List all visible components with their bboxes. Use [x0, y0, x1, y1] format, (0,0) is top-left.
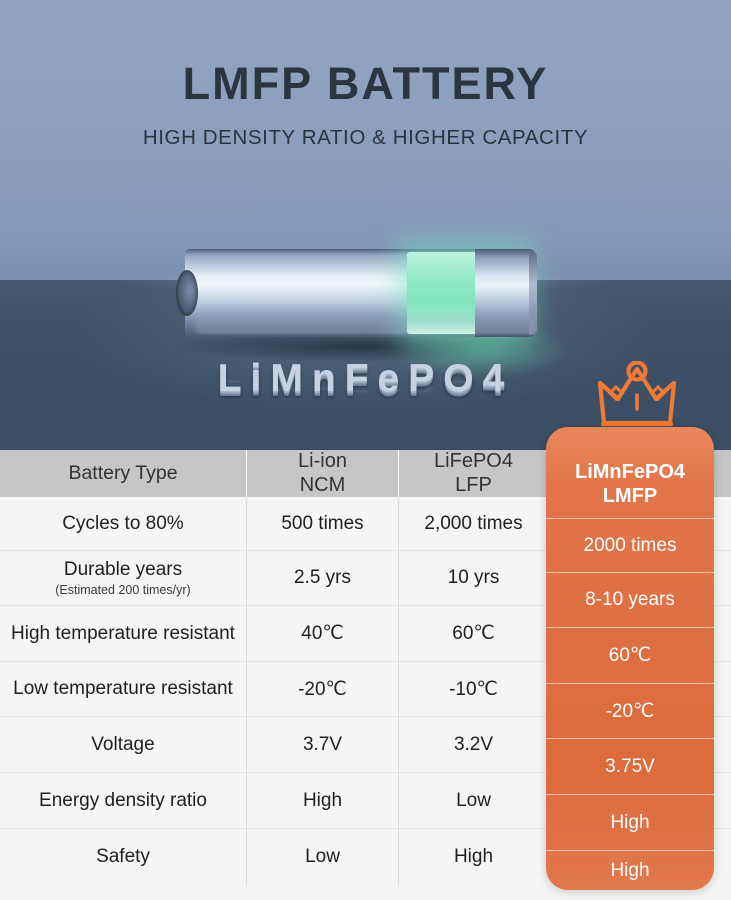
row-label-sub: (Estimated 200 times/yr) — [55, 583, 190, 597]
header-cell-lfp: LiFePO4 LFP — [398, 450, 548, 497]
cell-value: High — [303, 790, 342, 812]
row-label-main: Voltage — [91, 734, 154, 756]
header-ncm-line2: NCM — [300, 474, 346, 498]
battery-reflection — [196, 309, 536, 334]
cell-value: -20℃ — [298, 678, 347, 701]
cell-ncm: 500 times — [246, 497, 398, 550]
cell-value: -20℃ — [606, 700, 655, 723]
page-subtitle: HIGH DENSITY RATIO & HIGHER CAPACITY — [0, 126, 731, 150]
cell-lmfp: 2000 times — [546, 519, 714, 572]
cell-value: 8-10 years — [585, 589, 675, 611]
page-title: LMFP BATTERY — [0, 58, 731, 110]
cell-value: 60℃ — [452, 622, 494, 645]
header-lmfp-line2: LMFP — [603, 485, 657, 509]
cell-lmfp: 60℃ — [546, 628, 714, 683]
cell-value: Low — [456, 790, 491, 812]
header-cell-lmfp: LiMnFePO4 LMFP — [546, 452, 714, 518]
row-label: Voltage — [0, 717, 246, 772]
row-label-main: Durable years — [64, 559, 182, 581]
cell-value: -10℃ — [449, 678, 498, 701]
cell-value: 60℃ — [609, 644, 651, 667]
cell-value: High — [454, 846, 493, 868]
cell-ncm: 40℃ — [246, 606, 398, 661]
cell-lfp: 60℃ — [398, 606, 548, 661]
cell-ncm: -20℃ — [246, 662, 398, 716]
cell-value: High — [610, 860, 649, 882]
cell-lfp: 10 yrs — [398, 551, 548, 605]
cell-value: 3.7V — [303, 734, 342, 756]
row-label: Low temperature resistant — [0, 662, 246, 716]
cell-value: 2000 times — [584, 535, 677, 557]
header-lfp-line1: LiFePO4 — [434, 450, 513, 474]
header-lmfp-line1: LiMnFePO4 — [575, 461, 685, 485]
row-label-main: Low temperature resistant — [13, 678, 233, 700]
cell-lmfp: High — [546, 795, 714, 850]
row-label-main: High temperature resistant — [11, 623, 235, 645]
row-label: High temperature resistant — [0, 606, 246, 661]
row-label: Energy density ratio — [0, 773, 246, 828]
infographic-page: LMFP BATTERY HIGH DENSITY RATIO & HIGHER… — [0, 0, 731, 900]
row-label: Safety — [0, 829, 246, 885]
cell-lmfp: High — [546, 851, 714, 890]
cell-ncm: High — [246, 773, 398, 828]
battery-cap-left — [176, 270, 198, 316]
header-label-line1: Battery Type — [68, 462, 177, 485]
cell-value: Low — [305, 846, 340, 868]
row-label-main: Energy density ratio — [39, 790, 207, 812]
cell-value: 40℃ — [301, 622, 343, 645]
cell-lfp: -10℃ — [398, 662, 548, 716]
header-cell-label: Battery Type — [0, 450, 246, 497]
cell-lfp: 2,000 times — [398, 497, 548, 550]
cell-lmfp: -20℃ — [546, 684, 714, 738]
row-label-main: Cycles to 80% — [62, 513, 183, 535]
cell-value: 3.75V — [605, 756, 655, 778]
cell-value: 2.5 yrs — [294, 567, 351, 589]
cell-value: 2,000 times — [424, 513, 522, 535]
cell-lfp: High — [398, 829, 548, 885]
cell-value: 10 yrs — [448, 567, 500, 589]
hero-banner: LMFP BATTERY HIGH DENSITY RATIO & HIGHER… — [0, 0, 731, 450]
cell-lmfp: 8-10 years — [546, 573, 714, 627]
header-lfp-line2: LFP — [455, 474, 492, 498]
cell-ncm: 3.7V — [246, 717, 398, 772]
header-cell-ncm: Li-ion NCM — [246, 450, 398, 497]
cell-value: 3.2V — [454, 734, 493, 756]
row-label-main: Safety — [96, 846, 150, 868]
cell-lfp: 3.2V — [398, 717, 548, 772]
cell-lmfp: 3.75V — [546, 739, 714, 794]
cell-lfp: Low — [398, 773, 548, 828]
cell-value: 500 times — [281, 513, 363, 535]
cell-ncm: Low — [246, 829, 398, 885]
crown-icon — [596, 361, 678, 429]
cell-ncm: 2.5 yrs — [246, 551, 398, 605]
header-ncm-line1: Li-ion — [298, 450, 347, 474]
cell-value: High — [610, 812, 649, 834]
row-label: Durable years (Estimated 200 times/yr) — [0, 551, 246, 605]
row-label: Cycles to 80% — [0, 497, 246, 550]
